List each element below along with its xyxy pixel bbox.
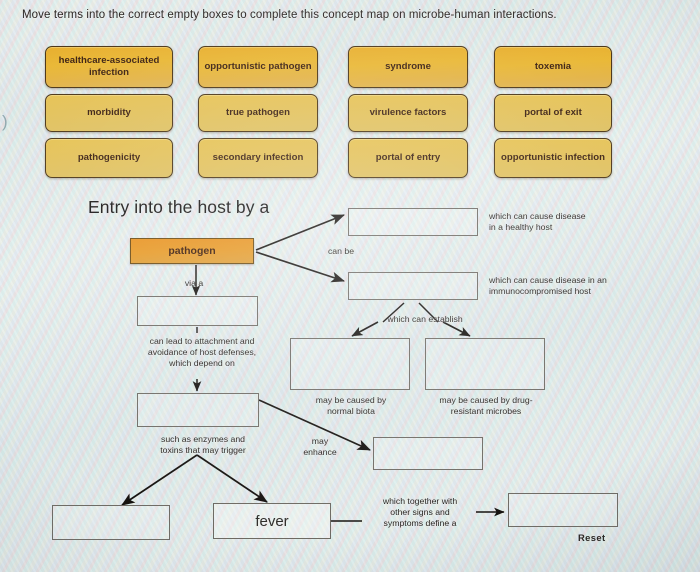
term-tile-secondary-infection[interactable]: secondary infection [198, 138, 318, 178]
slot-true-pathogen[interactable] [348, 208, 478, 236]
term-tile-portal-of-exit[interactable]: portal of exit [494, 94, 612, 132]
term-tile-portal-of-entry[interactable]: portal of entry [348, 138, 468, 178]
term-tile-morbidity[interactable]: morbidity [45, 94, 173, 132]
slot-virulence-factors[interactable] [137, 393, 259, 427]
label-can-be: can be [312, 246, 370, 257]
slot-toxemia[interactable] [52, 505, 170, 540]
term-tile-true-pathogen[interactable]: true pathogen [198, 94, 318, 132]
slot-opportunistic-pathogen[interactable] [348, 272, 478, 300]
instruction-text: Move terms into the correct empty boxes … [22, 9, 682, 21]
pathogen-node[interactable]: pathogen [130, 238, 254, 264]
label-can-establish: which can establish [370, 314, 480, 325]
label-normal-biota: may be caused by normal biota [295, 395, 407, 417]
term-tile-opportunistic-pathogen[interactable]: opportunistic pathogen [198, 46, 318, 88]
slot-portal-of-entry[interactable] [137, 296, 258, 326]
term-tile-opportunistic-infection[interactable]: opportunistic infection [494, 138, 612, 178]
term-tile-pathogenicity[interactable]: pathogenicity [45, 138, 173, 178]
term-tile-syndrome[interactable]: syndrome [348, 46, 468, 88]
label-immuno-host: which can cause disease in an immunocomp… [489, 275, 679, 297]
label-enzymes: such as enzymes and toxins that may trig… [135, 434, 271, 456]
term-tile-healthcare-associated-infection[interactable]: healthcare-associated infection [45, 46, 173, 88]
label-healthy-host: which can cause disease in a healthy hos… [489, 211, 659, 233]
label-via-a: via a [164, 278, 224, 289]
label-may-enhance: may enhance [290, 436, 350, 458]
label-define-a: which together with other signs and symp… [366, 496, 474, 529]
label-attachment: can lead to attachment and avoidance of … [118, 336, 286, 369]
fever-node[interactable]: fever [213, 503, 331, 539]
page-edge-artifact: ) [2, 112, 8, 132]
term-tile-toxemia[interactable]: toxemia [494, 46, 612, 88]
slot-secondary-infection[interactable] [373, 437, 483, 470]
slot-opportunistic-infection[interactable] [290, 338, 410, 390]
term-tile-virulence-factors[interactable]: virulence factors [348, 94, 468, 132]
slot-syndrome[interactable] [508, 493, 618, 527]
slot-healthcare-infection[interactable] [425, 338, 545, 390]
label-drug-resistant: may be caused by drug- resistant microbe… [428, 395, 544, 417]
concept-map-title: Entry into the host by a [88, 197, 269, 218]
reset-button[interactable]: Reset [578, 532, 606, 543]
